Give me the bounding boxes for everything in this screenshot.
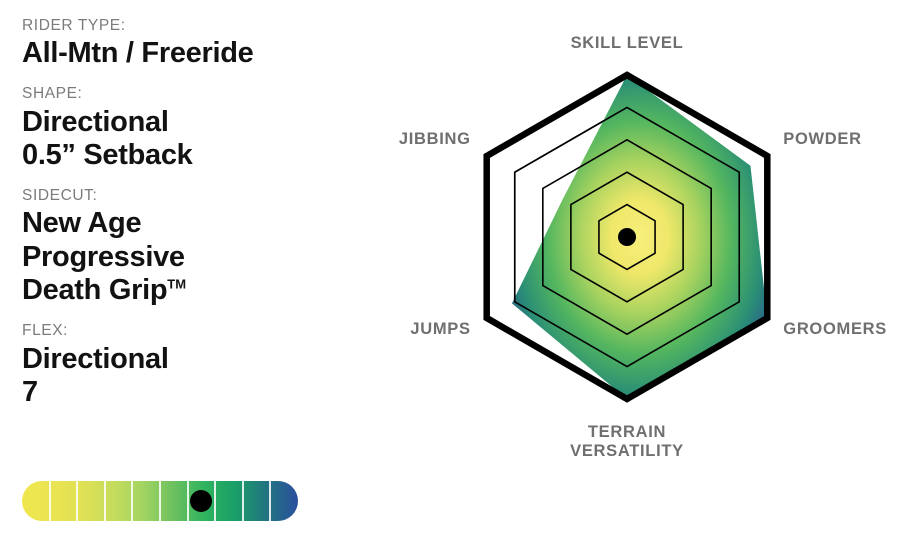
spec-value-shape: Directional 0.5” Setback <box>22 106 382 173</box>
spec-label-rider-type: RIDER TYPE: <box>22 16 382 36</box>
radar-axis-label-line: POWDER <box>783 130 861 148</box>
flex-scale-divider <box>187 481 189 521</box>
flex-scale-divider <box>159 481 161 521</box>
radar-chart: SKILL LEVELPOWDERGROOMERSTERRAINVERSATIL… <box>392 10 888 490</box>
spec-value-line: 0.5” Setback <box>22 139 382 173</box>
spec-label-flex: FLEX: <box>22 321 382 341</box>
spec-sidecut: SIDECUT: New Age Progressive Death GripT… <box>22 186 382 308</box>
radar-center-dot <box>618 228 636 246</box>
flex-scale-marker-dot[interactable] <box>190 490 212 512</box>
radar-axis-label-line: JUMPS <box>410 320 470 338</box>
spec-flex: FLEX: Directional 7 <box>22 321 382 410</box>
radar-axis-label-groomers: GROOMERS <box>783 320 887 338</box>
flex-scale-divider <box>242 481 244 521</box>
spec-shape: SHAPE: Directional 0.5” Setback <box>22 84 382 173</box>
radar-axis-label-line: GROOMERS <box>783 320 887 338</box>
spec-rider-type: RIDER TYPE: All-Mtn / Freeride <box>22 16 382 71</box>
spec-list: RIDER TYPE: All-Mtn / Freeride SHAPE: Di… <box>22 16 382 423</box>
flex-scale-divider <box>104 481 106 521</box>
flex-scale-widget[interactable] <box>22 481 298 521</box>
radar-axis-label-skill-level: SKILL LEVEL <box>571 34 684 52</box>
radar-center-marker <box>618 228 636 246</box>
trademark-symbol: TM <box>167 277 186 292</box>
spec-value-line: Progressive <box>22 241 382 275</box>
flex-scale-divider <box>131 481 133 521</box>
flex-scale-divider <box>49 481 51 521</box>
radar-chart-svg: SKILL LEVELPOWDERGROOMERSTERRAINVERSATIL… <box>392 10 888 490</box>
spec-value-line: 7 <box>22 376 382 410</box>
spec-label-shape: SHAPE: <box>22 84 382 104</box>
radar-axis-label-terrain-versatility: TERRAINVERSATILITY <box>570 423 684 460</box>
radar-axis-label-line: VERSATILITY <box>570 442 684 460</box>
radar-axis-label-line: JIBBING <box>399 130 471 148</box>
radar-axis-label-line: SKILL LEVEL <box>571 34 684 52</box>
spec-value-flex: Directional 7 <box>22 343 382 410</box>
radar-axis-label-powder: POWDER <box>783 130 861 148</box>
spec-label-sidecut: SIDECUT: <box>22 186 382 206</box>
spec-value-line: All-Mtn / Freeride <box>22 37 382 71</box>
spec-value-line-with-trademark: Death GripTM <box>22 274 382 308</box>
spec-value-line-text: Death Grip <box>22 274 167 306</box>
spec-sheet-page: RIDER TYPE: All-Mtn / Freeride SHAPE: Di… <box>0 0 900 554</box>
radar-series-area <box>512 75 767 399</box>
spec-value-sidecut: New Age Progressive Death GripTM <box>22 207 382 308</box>
flex-scale-divider <box>214 481 216 521</box>
flex-scale-divider <box>76 481 78 521</box>
radar-data-polygon <box>512 75 767 399</box>
spec-value-line: Directional <box>22 343 382 377</box>
radar-axis-label-line: TERRAIN <box>588 423 666 441</box>
spec-value-rider-type: All-Mtn / Freeride <box>22 37 382 71</box>
flex-scale-divider <box>269 481 271 521</box>
spec-value-line: Directional <box>22 106 382 140</box>
radar-axis-label-jibbing: JIBBING <box>399 130 471 148</box>
flex-scale-bar[interactable] <box>22 481 298 521</box>
spec-value-line: New Age <box>22 207 382 241</box>
radar-axis-label-jumps: JUMPS <box>410 320 470 338</box>
